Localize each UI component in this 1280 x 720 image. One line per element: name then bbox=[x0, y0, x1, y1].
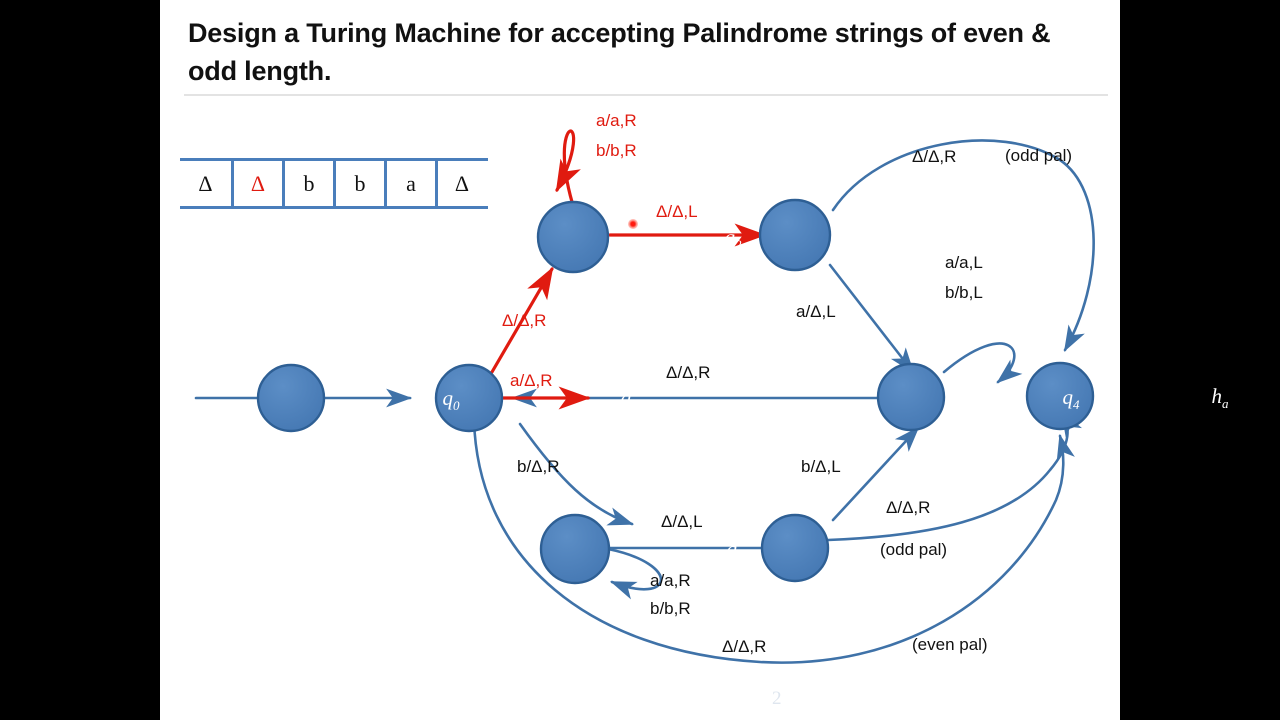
edge-q4-self bbox=[944, 344, 1014, 382]
label-q4-q1: Δ/Δ,R bbox=[666, 362, 710, 384]
state-q2[interactable] bbox=[538, 202, 608, 272]
edge-q6-ha bbox=[828, 412, 1068, 540]
label-q5-q6: Δ/Δ,L bbox=[661, 511, 703, 533]
state-q1[interactable] bbox=[436, 365, 502, 431]
label-odd-pal-top: (odd pal) bbox=[1005, 145, 1072, 167]
label-odd-pal-bottom: (odd pal) bbox=[880, 539, 947, 561]
label-q4-self-1: a/a,L bbox=[945, 252, 983, 274]
edge-q3-q4 bbox=[830, 265, 913, 372]
page-number: 2 bbox=[772, 688, 782, 710]
state-q6[interactable] bbox=[762, 515, 828, 581]
label-even-pal: (even pal) bbox=[912, 634, 988, 656]
label-q3-ha: Δ/Δ,R bbox=[912, 146, 956, 168]
label-q1-q5: b/Δ,R bbox=[517, 456, 560, 478]
label-q1-ha: Δ/Δ,R bbox=[722, 636, 766, 658]
slide-canvas: Design a Turing Machine for accepting Pa… bbox=[160, 0, 1120, 720]
label-q1-q2: a/Δ,R bbox=[510, 370, 553, 392]
edge-q2-self bbox=[557, 131, 575, 212]
state-q4[interactable] bbox=[878, 364, 944, 430]
label-q5-self-2: b/b,R bbox=[650, 598, 691, 620]
label-q4-self-2: b/b,L bbox=[945, 282, 983, 304]
label-q2-self-1: a/a,R bbox=[596, 110, 637, 132]
state-ha[interactable] bbox=[1027, 363, 1093, 429]
label-q5-self-1: a/a,R bbox=[650, 570, 691, 592]
label-q3-q4: a/Δ,L bbox=[796, 301, 836, 323]
state-q5[interactable] bbox=[541, 515, 609, 583]
label-q6-ha: Δ/Δ,R bbox=[886, 497, 930, 519]
state-label-ha: ha bbox=[1212, 384, 1229, 412]
label-q0-q1: Δ/Δ,R bbox=[502, 310, 546, 332]
label-q6-q4: b/Δ,L bbox=[801, 456, 841, 478]
state-q3[interactable] bbox=[760, 200, 830, 270]
label-q2-self-2: b/b,R bbox=[596, 140, 637, 162]
label-q2-q3: Δ/Δ,L bbox=[656, 201, 698, 223]
state-q0[interactable] bbox=[258, 365, 324, 431]
state-diagram bbox=[160, 0, 1120, 720]
slide-stage: Design a Turing Machine for accepting Pa… bbox=[0, 0, 1280, 720]
